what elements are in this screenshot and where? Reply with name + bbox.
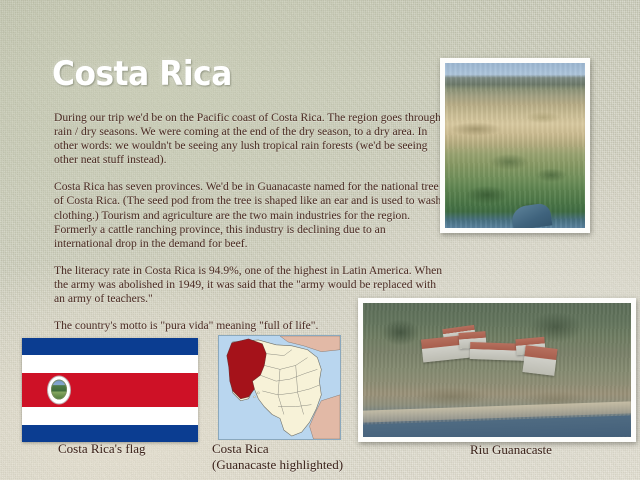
resort-building: [522, 345, 557, 376]
coat-of-arms-emblem: [51, 380, 67, 400]
caption-resort: Riu Guanacaste: [470, 442, 552, 458]
coat-of-arms-icon: [48, 376, 70, 403]
flag-stripe-blue-top: [22, 338, 198, 355]
landscape-photo-frame: [440, 58, 590, 233]
map-island: [257, 392, 259, 394]
landscape-photo-art: [445, 63, 585, 228]
map-svg: [219, 336, 340, 439]
caption-map: Costa Rica (Guanacaste highlighted): [212, 441, 343, 472]
flag-stripe-red: [22, 373, 198, 408]
body-paragraph-1: During our trip we'd be on the Pacific c…: [54, 111, 446, 167]
flag-stripe-blue-bottom: [22, 425, 198, 442]
costa-rica-map: [218, 335, 341, 440]
map-island: [254, 396, 256, 398]
slide-canvas: Costa Rica During our trip we'd be on th…: [0, 0, 640, 480]
costa-rica-flag: [22, 338, 198, 442]
resort-photo-frame: [358, 298, 636, 442]
resort-photo: [363, 303, 631, 437]
flag-stripe-white-lower: [22, 407, 198, 424]
flag-stripe-white-upper: [22, 355, 198, 372]
landscape-photo: [445, 63, 585, 228]
body-paragraph-2: Costa Rica has seven provinces. We'd be …: [54, 180, 446, 250]
caption-flag: Costa Rica's flag: [58, 441, 146, 457]
page-title: Costa Rica: [52, 55, 232, 93]
